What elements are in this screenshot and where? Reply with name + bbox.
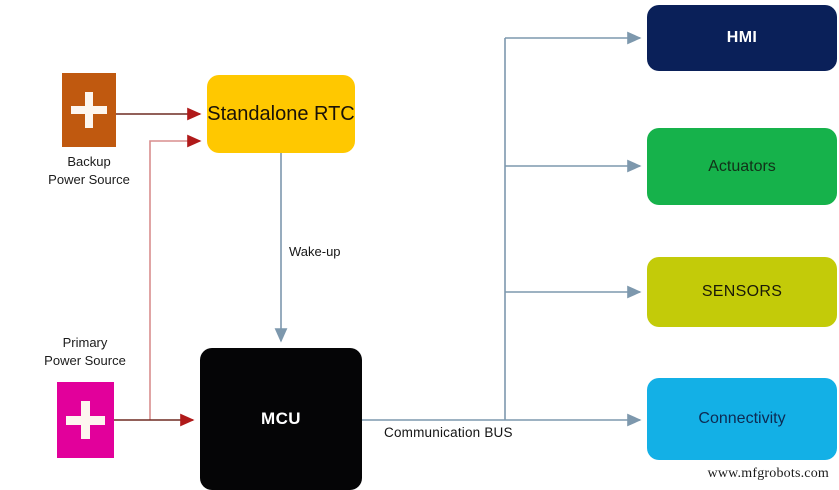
node-standalone-rtc[interactable]: Standalone RTC	[207, 75, 355, 153]
plus-icon	[81, 401, 90, 439]
node-connectivity[interactable]: Connectivity	[647, 378, 837, 460]
backup-power-source	[62, 73, 116, 147]
backup-power-source-label: Backup Power Source	[18, 153, 160, 189]
node-actuators[interactable]: Actuators	[647, 128, 837, 205]
edge-label-wakeup: Wake-up	[289, 243, 341, 261]
node-hmi[interactable]: HMI	[647, 5, 837, 71]
edge-label-communication-bus: Communication BUS	[384, 424, 513, 442]
diagram-canvas: Backup Power Source Primary Power Source…	[0, 0, 839, 488]
plus-icon	[85, 92, 93, 128]
primary-power-source-label: Primary Power Source	[14, 334, 156, 370]
node-mcu[interactable]: MCU	[200, 348, 362, 490]
primary-power-source	[57, 382, 114, 458]
node-sensors[interactable]: SENSORS	[647, 257, 837, 327]
watermark: www.mfgrobots.com	[708, 466, 829, 482]
